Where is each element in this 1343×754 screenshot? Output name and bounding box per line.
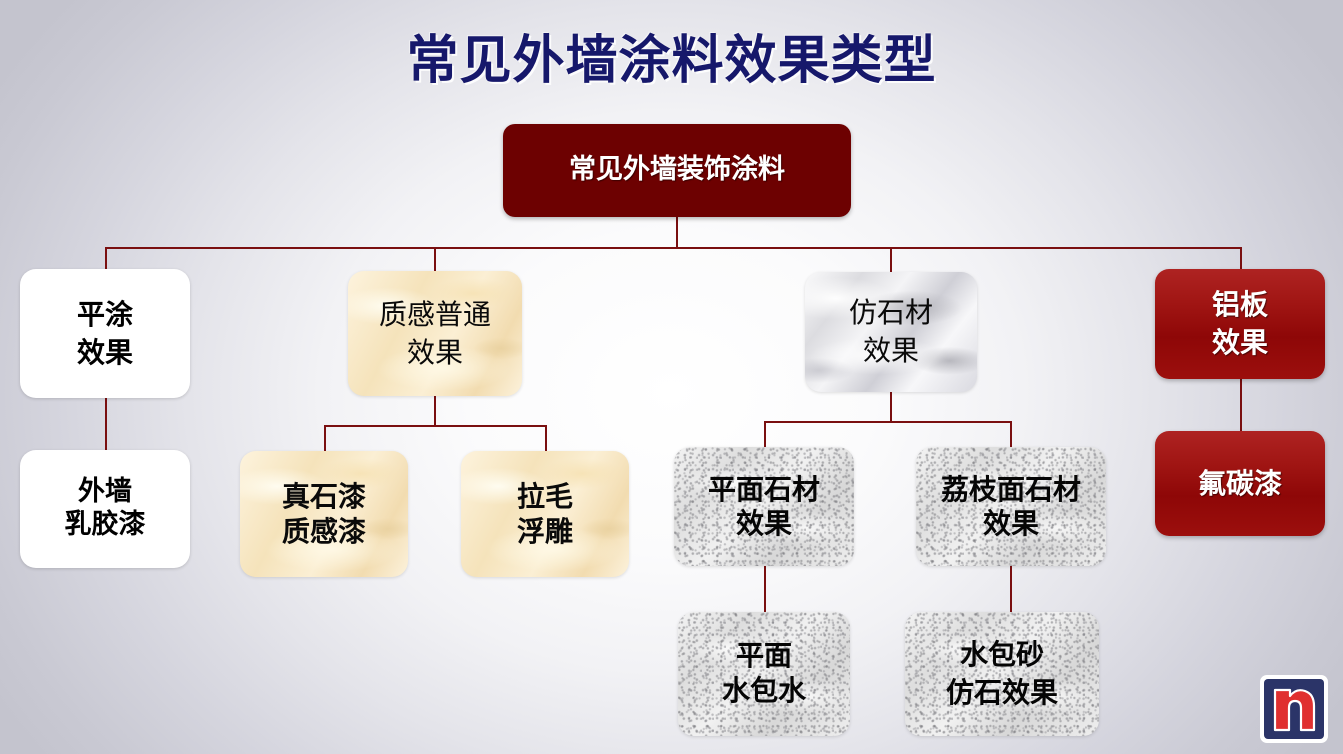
connector-texture-stem: [434, 396, 436, 426]
connector-faux-stone-bus: [764, 421, 1012, 423]
node-water-in-sand[interactable]: 水包砂 仿石效果: [905, 612, 1099, 736]
node-exterior-latex-line-2: 乳胶漆: [65, 509, 146, 542]
node-real-stone-paint-line-2: 质感漆: [282, 514, 366, 549]
connector-drop-flat-stone: [764, 421, 766, 447]
node-flat-coating-line-1: 平涂: [77, 296, 133, 334]
connector-texture-bus: [324, 425, 546, 427]
connector-drop-faux-stone: [890, 247, 892, 272]
node-exterior-latex-line-1: 外墙: [78, 476, 132, 509]
node-faux-stone-line-1: 仿石材: [849, 294, 933, 332]
connector-main-bus: [105, 247, 1241, 249]
node-flat-stone-line-1: 平面石材: [708, 473, 820, 507]
slide-canvas: 常见外墙涂料效果类型 常见外墙装饰涂料 平涂 效果 外墙 乳胶漆 质感普通 效果: [0, 0, 1343, 754]
nippon-logo: [1257, 672, 1331, 746]
connector-drop-texture: [434, 247, 436, 271]
node-real-stone-paint[interactable]: 真石漆 质感漆: [240, 451, 408, 577]
node-litchi-stone[interactable]: 荔枝面石材 效果: [916, 447, 1106, 566]
node-exterior-latex[interactable]: 外墙 乳胶漆: [20, 450, 190, 568]
node-flat-water-in-water-line-2: 水包水: [722, 674, 806, 709]
connector-drop-real-stone: [324, 425, 326, 451]
node-flat-stone-line-2: 效果: [736, 507, 792, 541]
node-litchi-stone-line-1: 荔枝面石材: [941, 473, 1081, 507]
connector-faux-stone-stem: [890, 392, 892, 422]
node-aluminum-panel-line-1: 铝板: [1212, 286, 1268, 324]
connector-drop-litchi-stone: [1010, 421, 1012, 447]
node-water-in-sand-line-1: 水包砂: [960, 636, 1044, 674]
node-flat-water-in-water[interactable]: 平面 水包水: [678, 612, 850, 736]
node-flat-water-in-water-line-1: 平面: [736, 639, 792, 674]
connector-flat-stone-to-waterinwater: [764, 566, 766, 612]
node-root-line-1: 常见外墙装饰涂料: [569, 152, 785, 188]
node-aluminum-panel-line-2: 效果: [1212, 324, 1268, 362]
node-faux-stone[interactable]: 仿石材 效果: [805, 272, 977, 392]
page-title: 常见外墙涂料效果类型: [0, 18, 1343, 93]
node-flat-coating-line-2: 效果: [77, 334, 133, 372]
node-combed-relief-line-1: 拉毛: [517, 479, 573, 514]
node-texture-normal-line-2: 效果: [407, 334, 463, 372]
connector-drop-flat: [105, 247, 107, 269]
connector-drop-combed: [545, 425, 547, 451]
node-root[interactable]: 常见外墙装饰涂料: [503, 124, 851, 217]
node-fluorocarbon-paint-line-1: 氟碳漆: [1198, 465, 1282, 503]
node-faux-stone-line-2: 效果: [863, 332, 919, 370]
node-litchi-stone-line-2: 效果: [983, 507, 1039, 541]
nippon-logo-icon: [1257, 672, 1331, 746]
node-flat-stone[interactable]: 平面石材 效果: [674, 447, 854, 566]
connector-aluminum-to-fluorocarbon: [1240, 378, 1242, 431]
node-texture-normal[interactable]: 质感普通 效果: [348, 271, 522, 396]
node-flat-coating[interactable]: 平涂 效果: [20, 269, 190, 398]
connector-litchi-to-waterinsand: [1010, 566, 1012, 612]
node-real-stone-paint-line-1: 真石漆: [282, 479, 366, 514]
node-fluorocarbon-paint[interactable]: 氟碳漆: [1155, 431, 1325, 536]
connector-drop-aluminum: [1240, 247, 1242, 269]
connector-flat-to-latex: [105, 398, 107, 450]
node-combed-relief[interactable]: 拉毛 浮雕: [461, 451, 629, 577]
node-aluminum-panel[interactable]: 铝板 效果: [1155, 269, 1325, 379]
connector-root-stem: [676, 217, 678, 248]
node-combed-relief-line-2: 浮雕: [517, 514, 573, 549]
node-texture-normal-line-1: 质感普通: [379, 296, 491, 334]
node-water-in-sand-line-2: 仿石效果: [946, 674, 1058, 712]
